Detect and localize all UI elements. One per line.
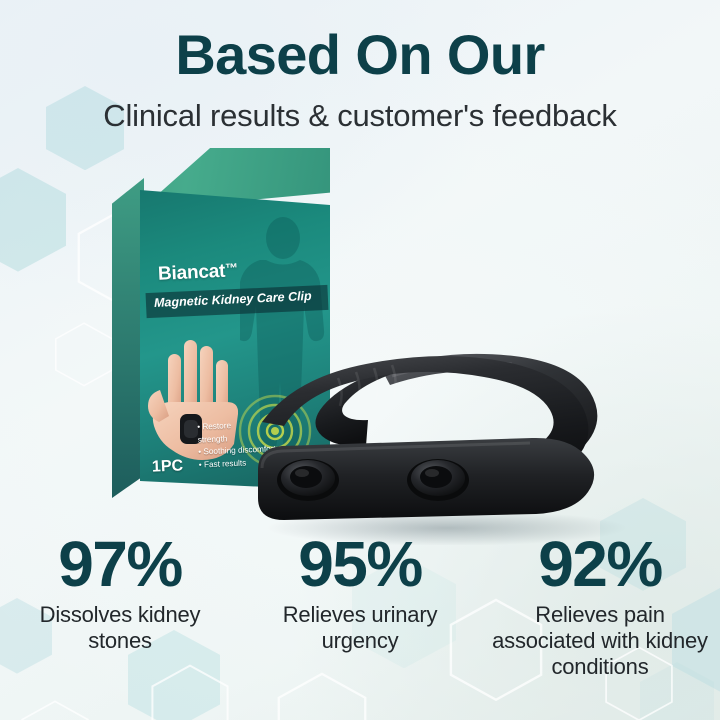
stat-label-2: Relieves pain associated with kidney con… — [486, 602, 714, 680]
box-brand-name: Biancat™ — [158, 260, 239, 286]
stat-label-1: Relieves urinary urgency — [246, 602, 474, 654]
trademark-symbol: ™ — [225, 260, 238, 276]
product-clip-devices-image — [232, 330, 652, 545]
statistics-row: 97% Dissolves kidney stones 95% Relieves… — [0, 532, 720, 720]
stat-value-0: 97% — [6, 532, 234, 596]
stat-value-1: 95% — [246, 532, 474, 596]
magnet-button-right — [407, 459, 469, 501]
stat-item-1: 95% Relieves urinary urgency — [240, 532, 480, 720]
promo-poster: Based On Our Clinical results & customer… — [0, 0, 720, 720]
stat-value-2: 92% — [486, 532, 714, 596]
clip-device-front — [258, 356, 594, 520]
hexagon-outline-1 — [54, 322, 114, 387]
box-quantity-label: 1PC — [152, 457, 184, 476]
page-title: Based On Our — [0, 26, 720, 85]
stat-item-2: 92% Relieves pain associated with kidney… — [480, 532, 720, 720]
hexagon-filled-0 — [0, 168, 66, 272]
page-subtitle: Clinical results & customer's feedback — [0, 98, 720, 134]
box-side-face — [112, 178, 144, 498]
brand-text: Biancat — [158, 261, 226, 285]
stat-item-0: 97% Dissolves kidney stones — [0, 532, 240, 720]
magnet-button-left — [277, 459, 339, 501]
stat-label-0: Dissolves kidney stones — [6, 602, 234, 654]
